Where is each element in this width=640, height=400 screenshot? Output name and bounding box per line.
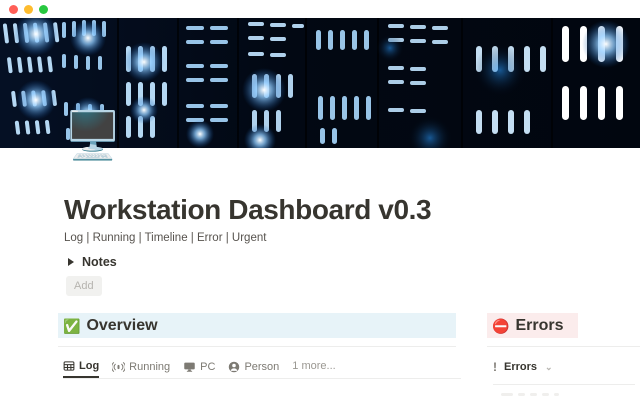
window-titlebar (0, 0, 640, 18)
tab-log[interactable]: Log (63, 356, 99, 378)
errors-column: ⛔ Errors ! Errors ⌄ (487, 313, 640, 396)
add-button[interactable]: Add (66, 276, 102, 296)
table-icon (63, 360, 75, 372)
chevron-down-icon[interactable]: ⌄ (545, 362, 553, 373)
person-icon (228, 361, 240, 373)
overview-column: ✅ Overview Log (58, 313, 456, 379)
overview-divider (58, 346, 456, 347)
tab-pc-label: PC (200, 361, 215, 373)
no-entry-icon: ⛔ (492, 319, 509, 333)
tab-pc[interactable]: PC (183, 356, 215, 378)
tab-bar-underline (63, 378, 461, 379)
overview-tab-bar: Log Running (58, 354, 456, 378)
tab-running-label: Running (129, 361, 170, 373)
monitor-icon (183, 361, 196, 373)
minimize-button[interactable] (24, 5, 33, 14)
errors-heading[interactable]: ⛔ Errors (487, 313, 578, 338)
page-body: Workstation Dashboard v0.3 Log | Running… (0, 148, 640, 400)
zoom-button[interactable] (39, 5, 48, 14)
antenna-icon (112, 361, 125, 373)
tab-running[interactable]: Running (112, 356, 170, 378)
errors-row-divider (493, 384, 635, 385)
overview-heading[interactable]: ✅ Overview (58, 313, 456, 338)
errors-row-label: Errors (504, 361, 537, 373)
tab-person[interactable]: Person (228, 356, 279, 378)
notes-toggle-label: Notes (82, 255, 117, 269)
tab-more-button[interactable]: 1 more... (292, 360, 335, 372)
close-button[interactable] (9, 5, 18, 14)
errors-heading-text: Errors (515, 317, 563, 335)
notes-toggle[interactable]: Notes (64, 252, 117, 272)
triangle-right-icon[interactable] (68, 258, 74, 266)
errors-database-row[interactable]: ! Errors ⌄ (487, 356, 640, 378)
exclamation-icon: ! (493, 361, 497, 373)
desktop-computer-icon[interactable]: 🖥️ (64, 112, 121, 158)
page-title[interactable]: Workstation Dashboard v0.3 (64, 194, 431, 226)
errors-placeholder-row (501, 393, 640, 396)
errors-divider (487, 346, 640, 347)
tab-person-label: Person (244, 361, 279, 373)
page-subtitle[interactable]: Log | Running | Timeline | Error | Urgen… (64, 232, 266, 244)
overview-heading-text: Overview (86, 317, 157, 335)
check-mark-button-icon: ✅ (63, 319, 80, 333)
tab-log-label: Log (79, 360, 99, 372)
